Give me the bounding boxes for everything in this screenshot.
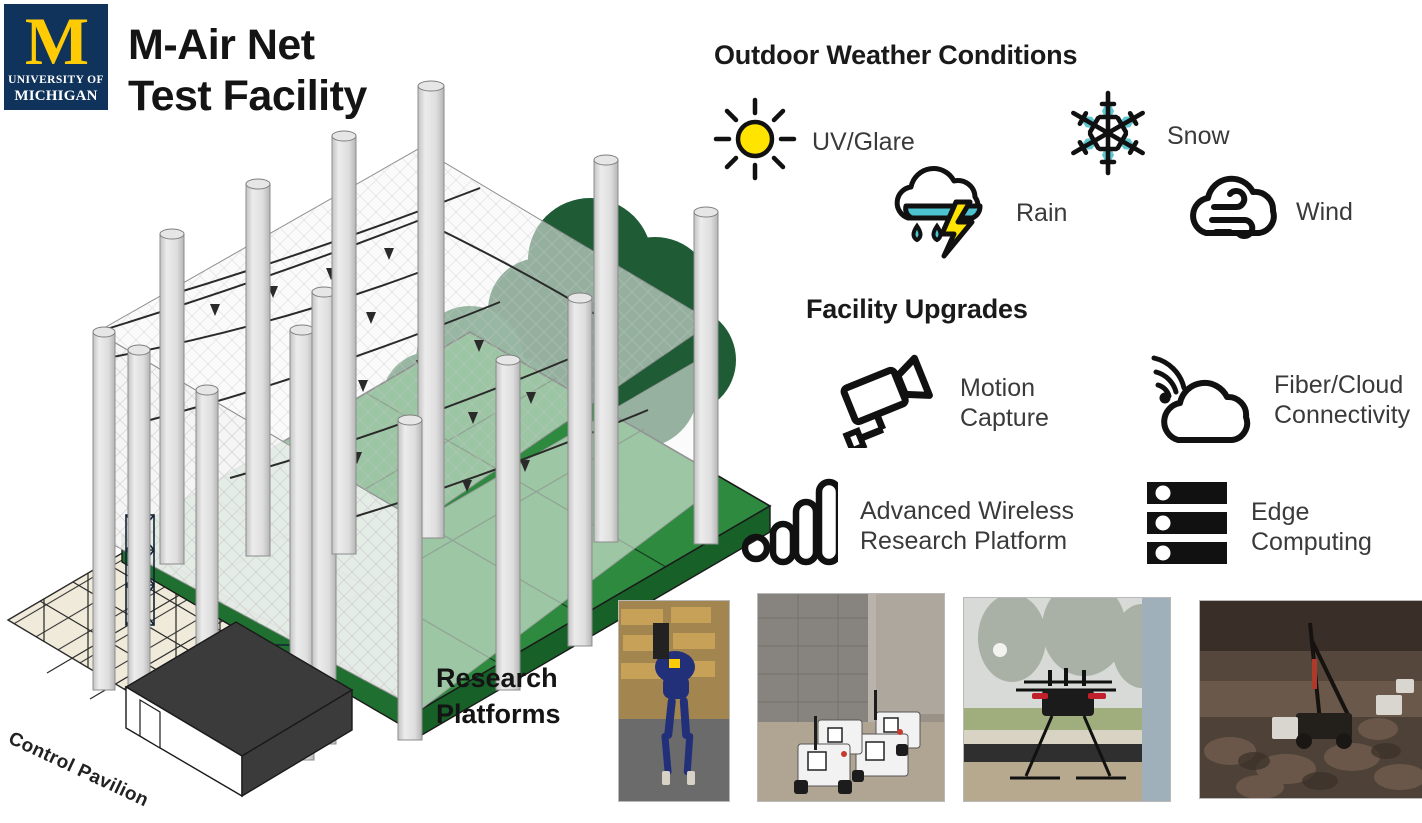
weather-item-rain: Rain <box>884 160 1067 265</box>
upgrade-item-edge-computing: Edge Computing <box>1143 478 1372 575</box>
weather-label-wind: Wind <box>1296 197 1353 227</box>
rain-cloud-icon <box>884 160 1004 265</box>
research-platforms-title: Research Platforms <box>436 660 616 733</box>
weather-label-uv-glare: UV/Glare <box>812 127 915 157</box>
photo-field-rover <box>1199 600 1422 799</box>
upgrade-label-advanced-wireless: Advanced Wireless Research Platform <box>860 496 1074 556</box>
weather-section-title: Outdoor Weather Conditions <box>714 40 1077 71</box>
weather-item-wind: Wind <box>1180 163 1353 260</box>
infographic-canvas: M UNIVERSITY OF MICHIGAN M-Air Net Test … <box>0 0 1422 823</box>
upgrade-label-fiber-cloud: Fiber/Cloud Connectivity <box>1274 370 1410 430</box>
photo-ground-rovers <box>757 593 945 802</box>
upgrade-item-advanced-wireless: Advanced Wireless Research Platform <box>740 478 1074 573</box>
signal-bars-icon <box>740 478 838 573</box>
upgrade-label-edge-computing: Edge Computing <box>1251 497 1372 557</box>
photo-bipedal-robot <box>618 600 730 802</box>
weather-label-rain: Rain <box>1016 198 1067 228</box>
upgrade-item-motion-capture: Motion Capture <box>832 352 1049 453</box>
upgrade-item-fiber-cloud: Fiber/Cloud Connectivity <box>1148 348 1410 451</box>
server-rack-icon <box>1143 478 1231 575</box>
upgrade-label-motion-capture: Motion Capture <box>960 373 1049 433</box>
snowflake-icon <box>1063 88 1153 183</box>
sun-icon <box>712 96 798 187</box>
photo-drone <box>963 597 1171 802</box>
wind-cloud-icon <box>1180 163 1284 260</box>
upgrades-section-title: Facility Upgrades <box>806 294 1028 325</box>
video-camera-icon <box>832 352 940 453</box>
weather-label-snow: Snow <box>1167 121 1230 151</box>
wifi-cloud-icon <box>1148 348 1256 451</box>
